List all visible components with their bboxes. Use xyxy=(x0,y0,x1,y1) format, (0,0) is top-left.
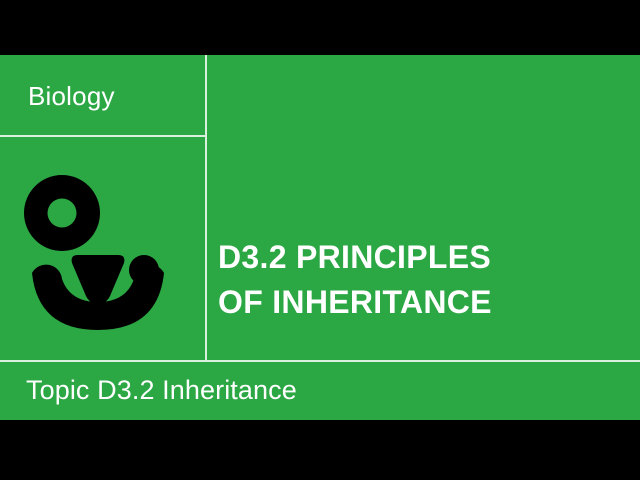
divider-horizontal-footer xyxy=(0,360,640,362)
animal-face-logo xyxy=(18,155,190,335)
nose xyxy=(72,255,125,304)
slide-canvas: Biology D3.2 PRINCIPLES OF INHERITANCE T… xyxy=(0,55,640,420)
slide-screenshot: Biology D3.2 PRINCIPLES OF INHERITANCE T… xyxy=(0,0,640,480)
footer-topic-label: Topic D3.2 Inheritance xyxy=(26,374,297,406)
subject-label: Biology xyxy=(28,83,115,109)
large-ring-eye xyxy=(24,175,100,251)
divider-vertical-main xyxy=(205,55,207,360)
page-title-line-2: OF INHERITANCE xyxy=(218,280,628,325)
page-title-line-1: D3.2 PRINCIPLES xyxy=(218,235,628,280)
divider-horizontal-subject xyxy=(0,135,205,137)
letterbox-bar-top xyxy=(0,0,640,55)
letterbox-bar-bottom xyxy=(0,420,640,480)
page-title: D3.2 PRINCIPLES OF INHERITANCE xyxy=(218,235,628,326)
